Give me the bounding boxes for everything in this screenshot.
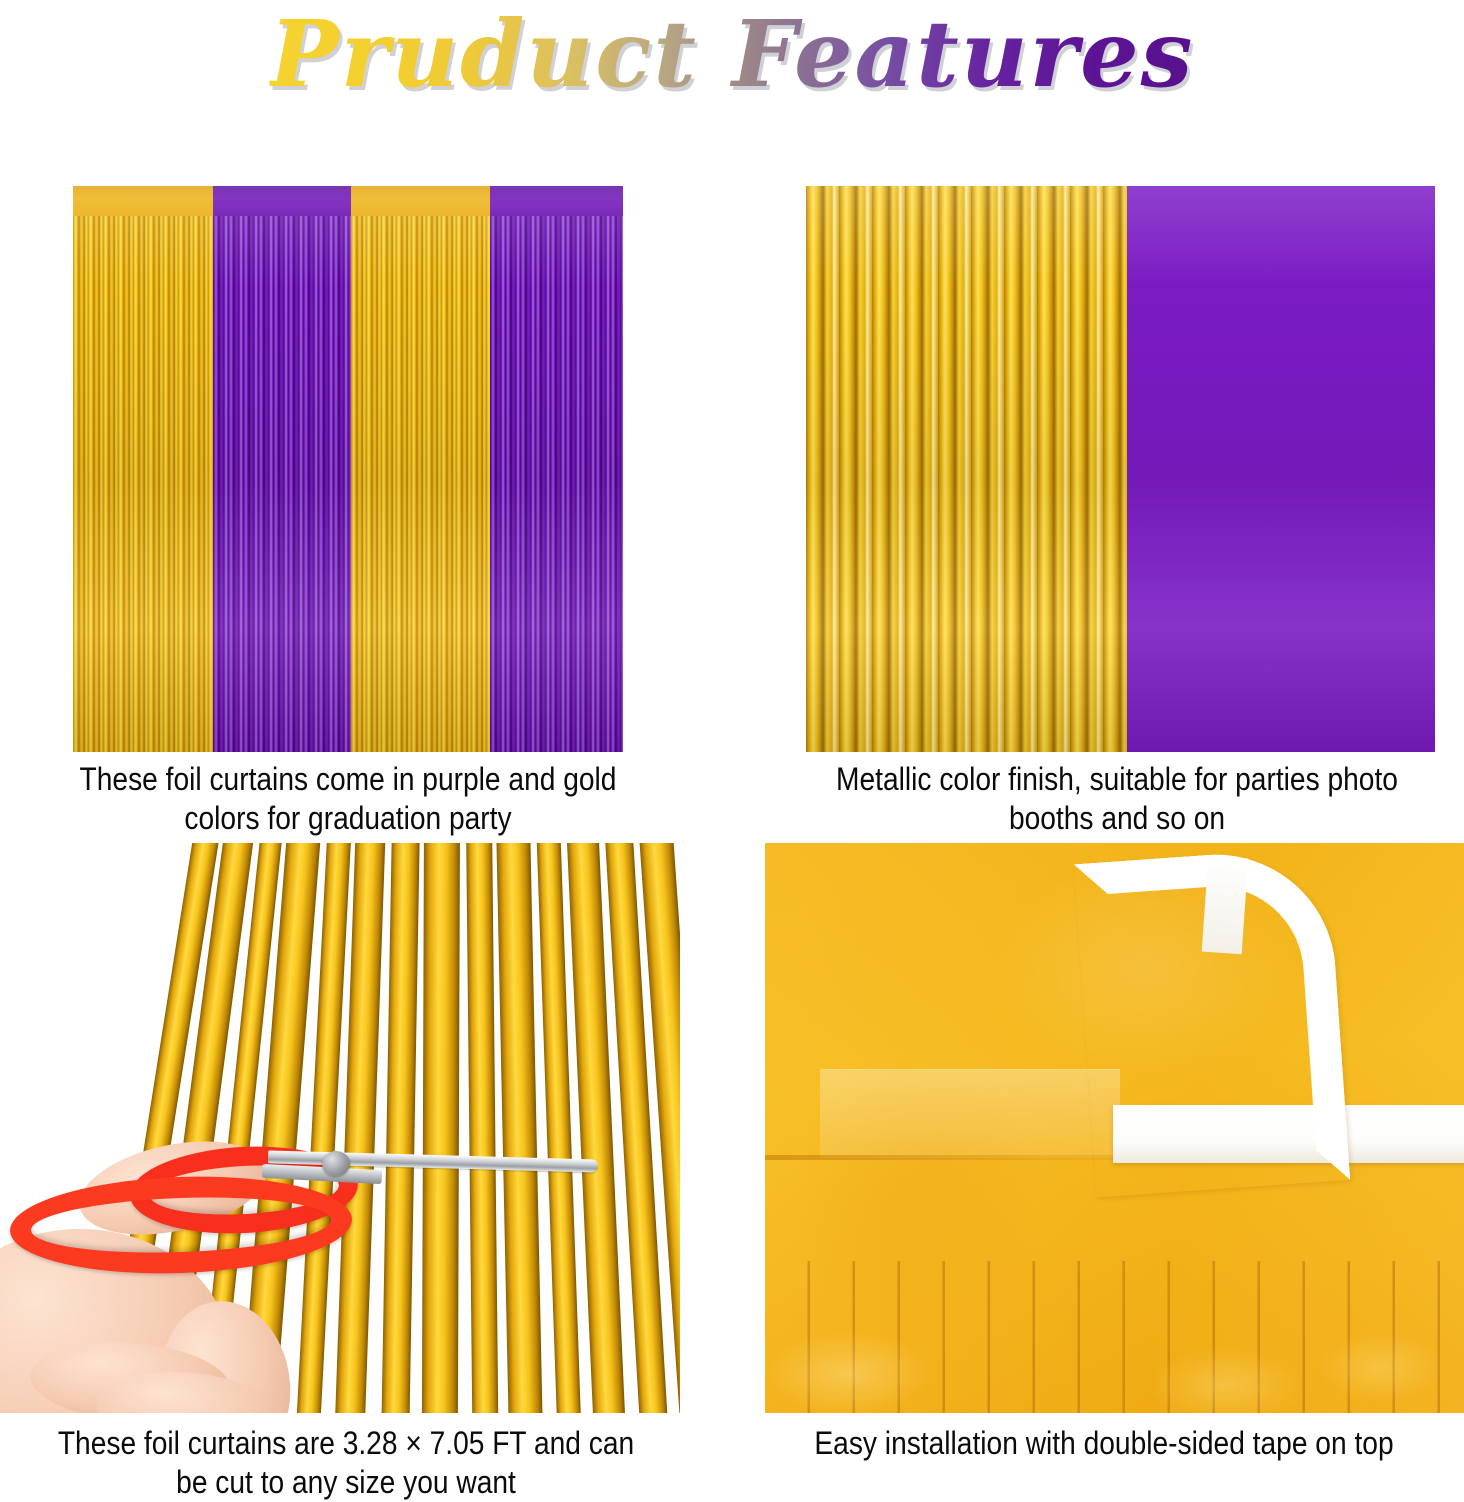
caption-scissors-cut: These foil curtains are 3.28 × 7.05 FT a…: [49, 1424, 644, 1502]
feature-image-curtain-panels: [73, 186, 623, 752]
curtain-panel-purple-1: [213, 186, 351, 752]
caption-curtain-closeup: Metallic color finish, suitable for part…: [822, 760, 1412, 838]
curtain-panel-gold-1: [73, 186, 213, 752]
foil-fringe-highlights: [765, 1273, 1464, 1413]
scissors-handle-lower: [8, 1171, 353, 1279]
panel-header-band-gold: [351, 186, 490, 216]
closeup-half-gold: [806, 186, 1127, 752]
curtain-panel-gold-2: [351, 186, 490, 752]
tape-band-adhesive: [820, 1069, 1120, 1158]
closeup-half-purple: [1127, 186, 1435, 752]
fringe-strands-gold: [73, 214, 213, 752]
feature-image-curtain-closeup: [806, 186, 1435, 752]
feature-image-scissors-cut: [0, 843, 680, 1413]
panel-header-band-purple: [490, 186, 623, 216]
curtain-panel-purple-2: [490, 186, 623, 752]
page-title: Pruduct Features: [270, 6, 1195, 103]
scissors-pivot-screw: [322, 1151, 350, 1176]
panel-header-band-purple: [213, 186, 351, 216]
fringe-strands-purple: [213, 214, 351, 752]
caption-tape-install: Easy installation with double-sided tape…: [791, 1424, 1418, 1463]
scissors: [0, 1111, 640, 1351]
fringe-strands-gold: [351, 214, 490, 752]
panel-header-band-gold: [73, 186, 213, 216]
title-banner: Pruduct Features: [0, 0, 1464, 128]
caption-curtain-panels: These foil curtains come in purple and g…: [58, 760, 639, 838]
feature-image-tape-install: [765, 843, 1464, 1413]
fringe-strands-purple: [490, 214, 623, 752]
tape-liner-tip: [1202, 856, 1249, 955]
